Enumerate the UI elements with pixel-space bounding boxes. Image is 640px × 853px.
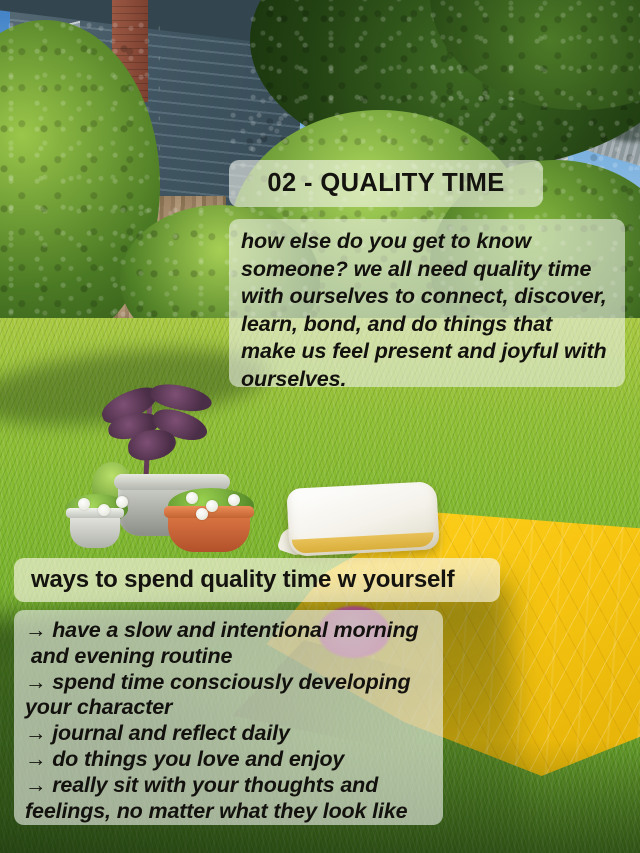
white-flower	[206, 500, 218, 512]
white-flower	[228, 494, 240, 506]
white-flower	[116, 496, 128, 508]
body-text: how else do you get to know someone? we …	[241, 228, 612, 393]
list-item: → really sit with your thoughts and feel…	[25, 773, 433, 825]
subheading-banner: ways to spend quality time w yourself	[14, 558, 500, 602]
title-text: 02 - QUALITY TIME	[267, 169, 504, 198]
arrow-icon: →	[25, 747, 52, 771]
tree-canopy-right	[430, 0, 640, 110]
list-item-text: have a slow and intentional morning and …	[25, 618, 418, 668]
title-banner: 02 - QUALITY TIME	[229, 160, 543, 207]
arrow-icon: →	[25, 618, 52, 642]
list-item-text: really sit with your thoughts and feelin…	[25, 773, 407, 823]
arrow-icon: →	[25, 670, 52, 694]
arrow-icon: →	[25, 773, 52, 797]
list-item-text: journal and reflect daily	[52, 721, 290, 745]
white-flower	[98, 504, 110, 516]
white-pot-rim	[66, 508, 124, 518]
white-flower	[196, 508, 208, 520]
white-flower	[78, 498, 90, 510]
tips-list-panel: → have a slow and intentional morning an…	[14, 610, 443, 825]
leaf-texture	[430, 0, 640, 110]
list-item: → journal and reflect daily	[25, 721, 433, 747]
white-flower	[186, 492, 198, 504]
body-text-panel: how else do you get to know someone? we …	[229, 219, 625, 387]
list-item: → do things you love and enjoy	[25, 747, 433, 773]
list-item: → have a slow and intentional morning an…	[25, 618, 433, 670]
arrow-icon: →	[25, 721, 52, 745]
list-item: → spend time consciously developing your…	[25, 670, 433, 722]
list-item-text: do things you love and enjoy	[52, 747, 344, 771]
social-post-canvas: 02 - QUALITY TIME how else do you get to…	[0, 0, 640, 853]
list-item-text: spend time consciously developing your c…	[25, 670, 410, 720]
tips-list: → have a slow and intentional morning an…	[25, 618, 433, 824]
subheading-text: ways to spend quality time w yourself	[31, 566, 454, 594]
